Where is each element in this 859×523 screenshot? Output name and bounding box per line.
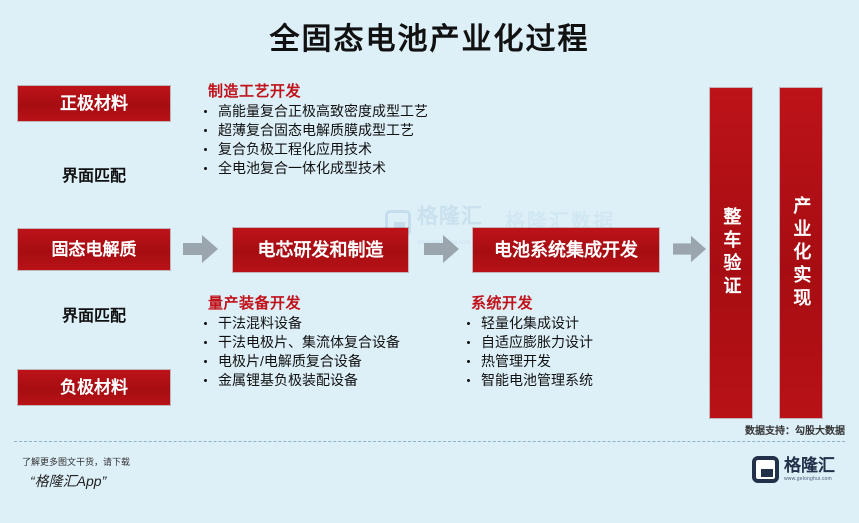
list-item: 电极片/电解质复合设备 [200,353,450,370]
left-item-anode-material: 负极材料 [18,370,170,405]
data-source-note: 数据支持：勾股大数据 [745,422,845,437]
list-item: 全电池复合一体化成型技术 [200,160,455,177]
group-mass-production-equipment-list: 干法混料设备 干法电极片、集流体复合设备 电极片/电解质复合设备 金属锂基负极装… [200,315,450,389]
brand-logo-text: 格隆汇 [784,456,835,475]
left-item-interface-match-top: 界面匹配 [18,162,170,186]
left-item-anode-material-label: 负极材料 [60,378,128,398]
stage-system-integration-label: 电池系统集成开发 [494,240,638,261]
brand-logo-url: www.gelonghui.com [784,476,835,482]
list-item: 轻量化集成设计 [463,315,693,332]
group-mass-production-equipment: 量产装备开发 干法混料设备 干法电极片、集流体复合设备 电极片/电解质复合设备 … [200,292,450,391]
list-item: 金属锂基负极装配设备 [200,372,450,389]
list-item: 自适应膨胀力设计 [463,334,693,351]
left-item-interface-match-top-label: 界面匹配 [62,168,126,185]
flow-arrow-2-icon [424,234,460,264]
left-item-interface-match-bottom-label: 界面匹配 [62,308,126,325]
list-item: 干法电极片、集流体复合设备 [200,334,450,351]
group-manufacturing-process: 制造工艺开发 高能量复合正极高致密度成型工艺 超薄复合固态电解质膜成型工艺 复合… [200,80,455,179]
stage-cell-rnd-label: 电芯研发和制造 [258,240,384,261]
flow-arrow-1-icon [183,234,219,264]
stage-vehicle-validation-box: 整车验证 [710,88,752,418]
brand-logo-text-block: 格隆汇 www.gelonghui.com [784,456,835,482]
group-manufacturing-process-list: 高能量复合正极高致密度成型工艺 超薄复合固态电解质膜成型工艺 复合负极工程化应用… [200,103,455,177]
left-item-solid-electrolyte-label: 固态电解质 [52,240,137,260]
group-system-development-list: 轻量化集成设计 自适应膨胀力设计 热管理开发 智能电池管理系统 [463,315,693,389]
list-item: 超薄复合固态电解质膜成型工艺 [200,122,455,139]
group-system-development-heading: 系统开发 [471,292,693,313]
left-item-cathode-material: 正极材料 [18,86,170,121]
group-mass-production-equipment-heading: 量产装备开发 [208,292,450,313]
stage-industrialization-box: 产业化实现 [780,88,822,418]
list-item: 高能量复合正极高致密度成型工艺 [200,103,455,120]
left-item-solid-electrolyte: 固态电解质 [18,229,170,270]
group-system-development: 系统开发 轻量化集成设计 自适应膨胀力设计 热管理开发 智能电池管理系统 [463,292,693,391]
promo-line-1: 了解更多图文干货，请下载 [22,455,130,468]
stage-cell-rnd-box: 电芯研发和制造 [233,228,408,272]
list-item: 热管理开发 [463,353,693,370]
promo-line-2: “格隆汇App” [30,471,106,491]
stage-system-integration-box: 电池系统集成开发 [473,228,659,272]
stage-industrialization-label: 产业化实现 [791,196,812,311]
brand-logo: 格隆汇 www.gelonghui.com [752,456,835,483]
stage-vehicle-validation-label: 整车验证 [721,207,742,299]
slide-canvas: 全固态电池产业化过程 格隆汇 www.gelonghui.com 格隆汇数据 正… [0,0,859,523]
left-item-interface-match-bottom: 界面匹配 [18,302,170,326]
footer-divider [14,441,845,442]
page-title: 全固态电池产业化过程 [0,14,859,58]
watermark-text: 格隆汇 [417,200,483,230]
list-item: 干法混料设备 [200,315,450,332]
list-item: 复合负极工程化应用技术 [200,141,455,158]
brand-logo-mark-icon [752,456,779,483]
group-manufacturing-process-heading: 制造工艺开发 [208,80,455,101]
flow-arrow-3-icon [673,234,707,264]
left-item-cathode-material-label: 正极材料 [60,94,128,114]
list-item: 智能电池管理系统 [463,372,693,389]
